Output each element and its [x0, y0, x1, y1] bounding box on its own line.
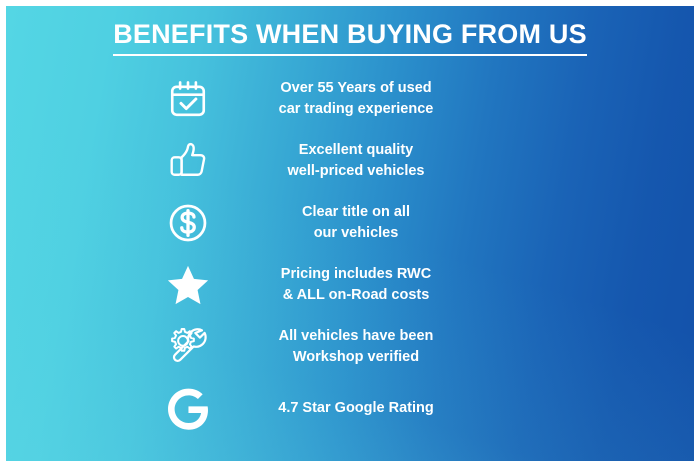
benefits-poster: BENEFITS WHEN BUYING FROM US Over 5 [0, 0, 700, 467]
benefit-line-1: 4.7 Star Google Rating [278, 400, 434, 416]
list-item: Over 55 Years of used car trading experi… [6, 68, 694, 130]
google-g-icon [156, 378, 220, 440]
list-item: Pricing includes RWC & ALL on-Road costs [6, 254, 694, 316]
thumbs-up-icon [156, 130, 220, 192]
page-title: BENEFITS WHEN BUYING FROM US [113, 20, 587, 56]
poster-content: BENEFITS WHEN BUYING FROM US Over 5 [6, 6, 694, 461]
calendar-check-icon [156, 68, 220, 130]
benefit-line-1: All vehicles have been [279, 328, 434, 344]
benefits-list: Over 55 Years of used car trading experi… [6, 68, 694, 440]
benefit-text: Excellent quality well-priced vehicles [256, 140, 456, 182]
benefit-text: Over 55 Years of used car trading experi… [256, 78, 456, 120]
list-item: All vehicles have been Workshop verified [6, 316, 694, 378]
benefit-line-2: our vehicles [256, 223, 456, 244]
list-item: Clear title on all our vehicles [6, 192, 694, 254]
poster-title-container: BENEFITS WHEN BUYING FROM US [6, 20, 694, 56]
poster-canvas: BENEFITS WHEN BUYING FROM US Over 5 [6, 6, 694, 461]
benefit-line-2: well-priced vehicles [256, 161, 456, 182]
list-item: Excellent quality well-priced vehicles [6, 130, 694, 192]
benefit-line-2: & ALL on-Road costs [256, 285, 456, 306]
list-item: 4.7 Star Google Rating [6, 378, 694, 440]
benefit-line-2: car trading experience [256, 99, 456, 120]
benefit-line-1: Pricing includes RWC [281, 266, 431, 282]
benefit-line-1: Clear title on all [302, 204, 410, 220]
benefit-line-1: Over 55 Years of used [280, 80, 431, 96]
benefit-line-2: Workshop verified [256, 347, 456, 368]
benefit-text: 4.7 Star Google Rating [256, 398, 456, 419]
benefit-text: All vehicles have been Workshop verified [256, 326, 456, 368]
dollar-circle-icon [156, 192, 220, 254]
star-icon [156, 254, 220, 316]
benefit-line-1: Excellent quality [299, 142, 413, 158]
benefit-text: Pricing includes RWC & ALL on-Road costs [256, 264, 456, 306]
gear-wrench-icon [156, 316, 220, 378]
benefit-text: Clear title on all our vehicles [256, 202, 456, 244]
